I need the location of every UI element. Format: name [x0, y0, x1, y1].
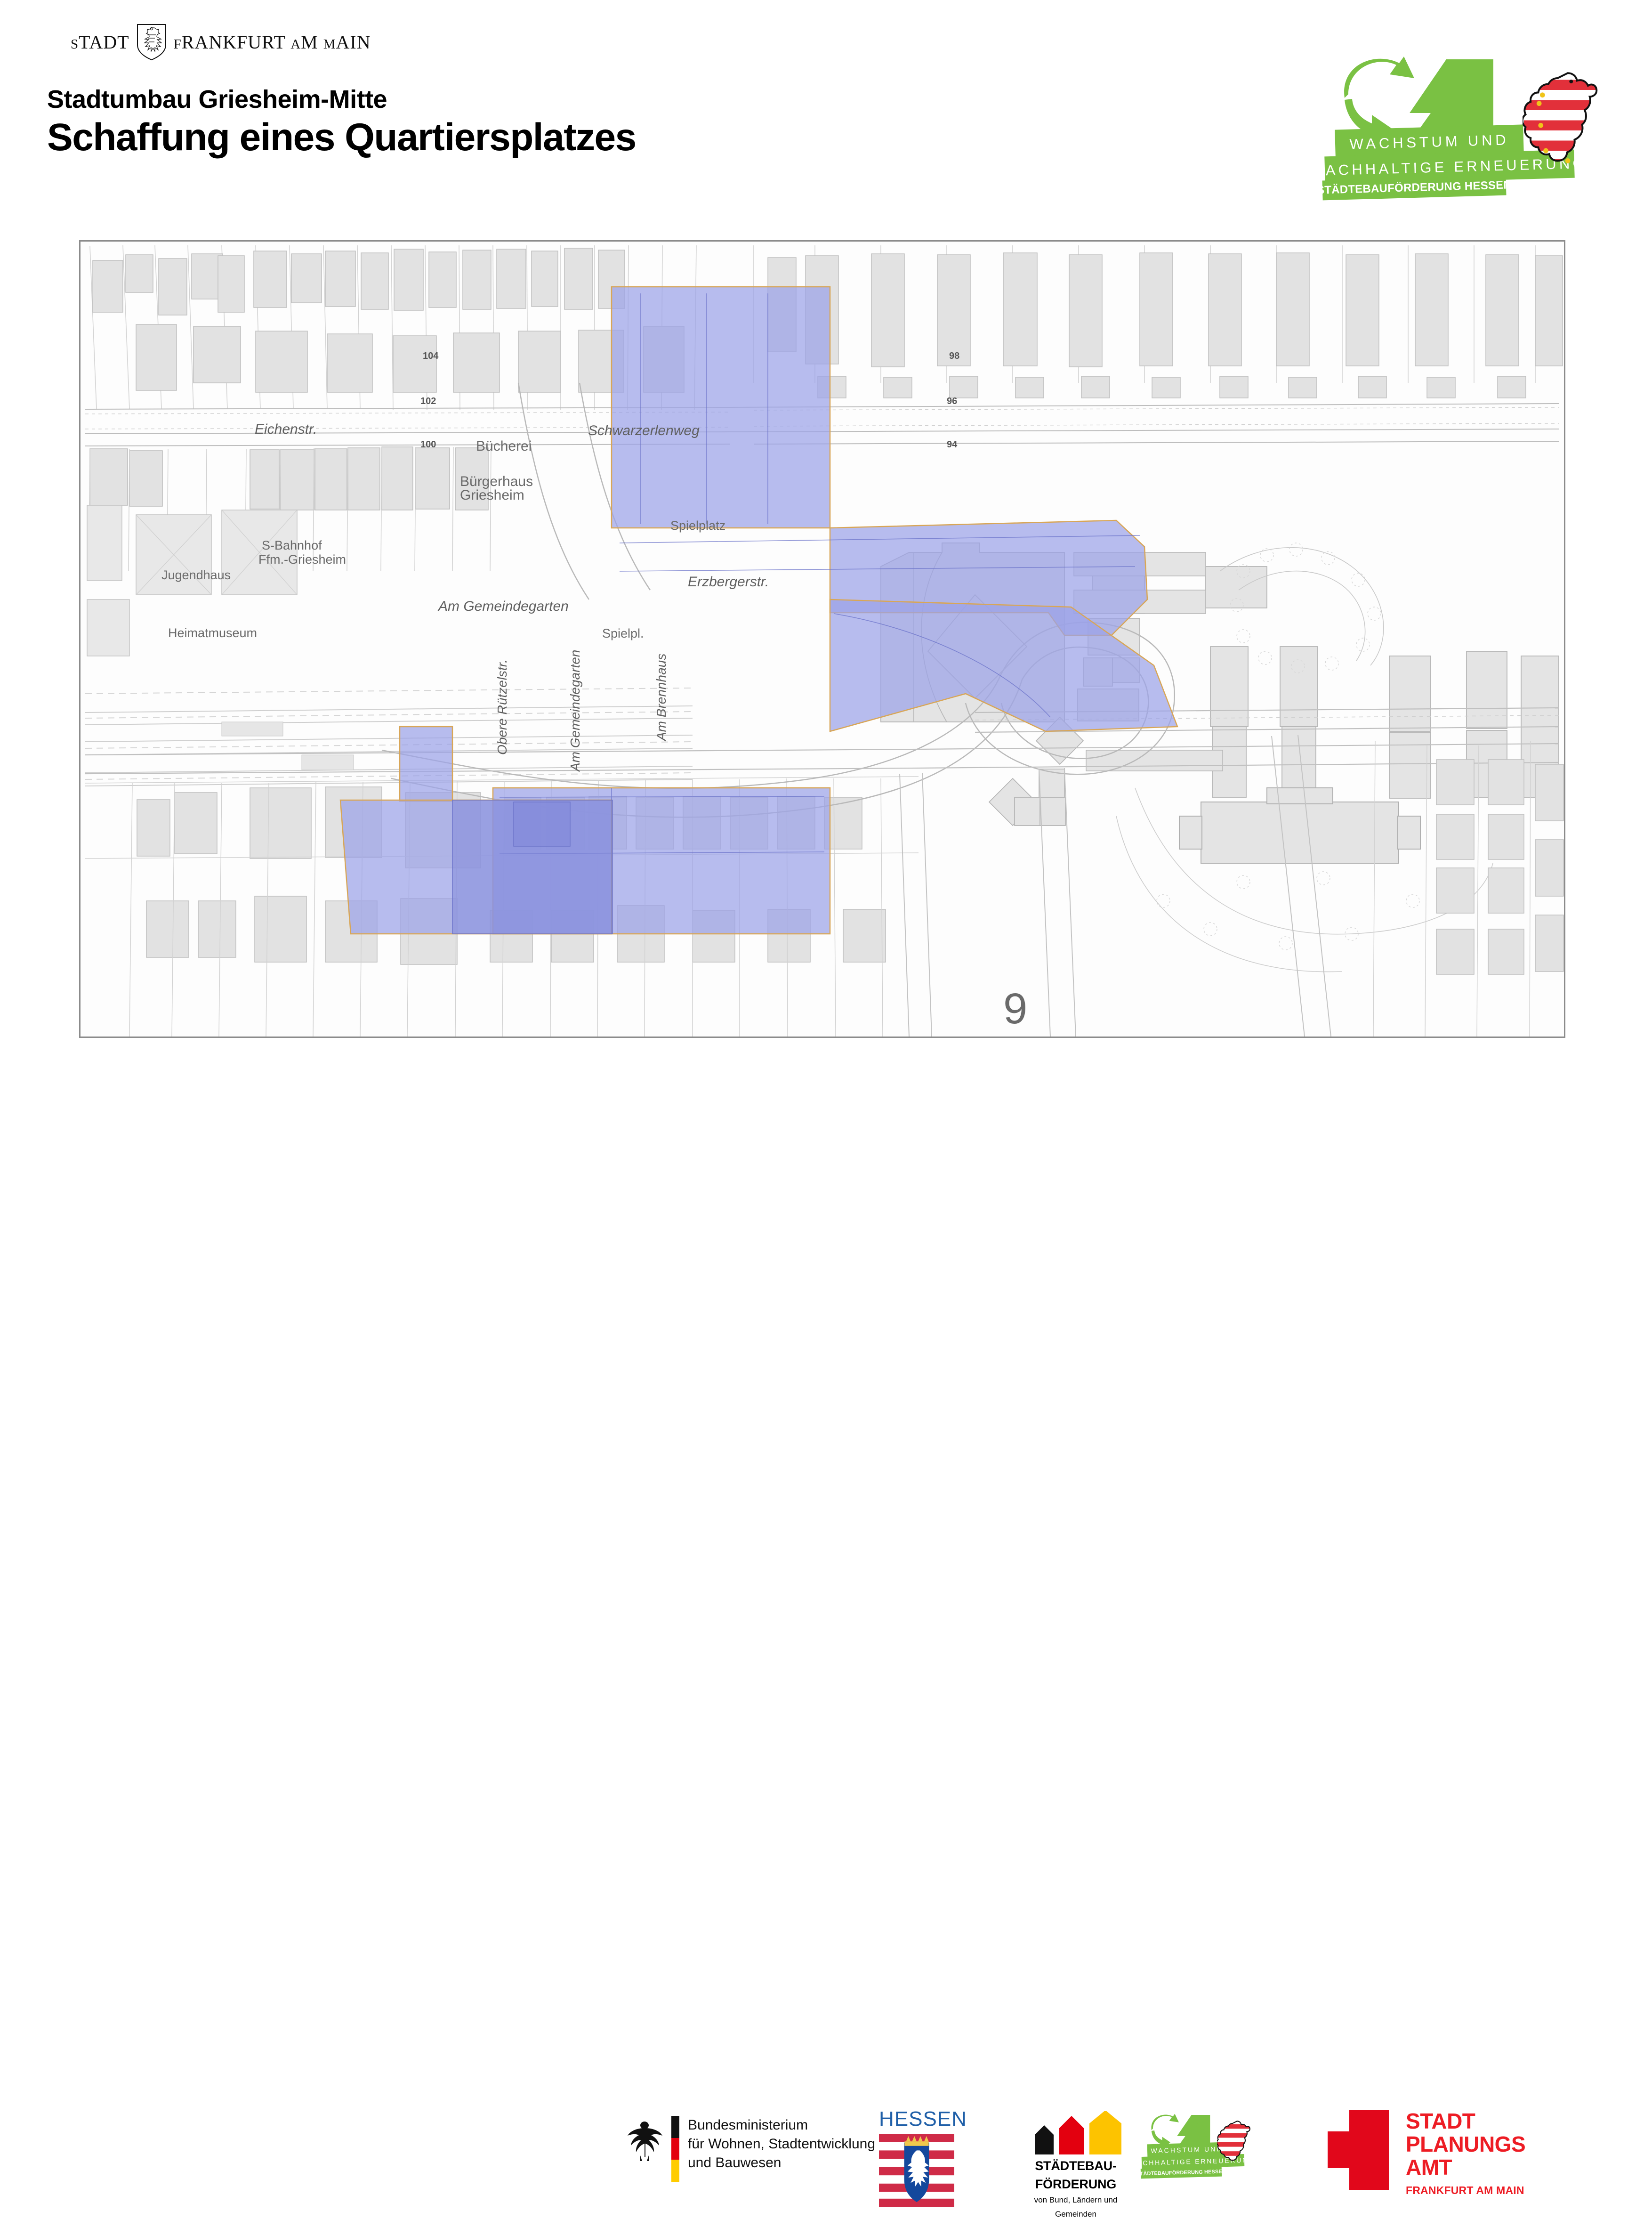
page-footer: Bundesministerium für Wohnen, Stadtentwi… — [0, 1043, 1652, 1168]
wachstum-und-nachhaltige-erneuerung-logo: WACHSTUM UND NACHHALTIGE ERNEUERUNG STÄD… — [1344, 57, 1626, 207]
bmwsb-logo: Bundesministerium für Wohnen, Stadtentwi… — [626, 2116, 875, 2182]
city-logo-stadt: STADT — [71, 31, 129, 53]
page-header: STADT FRANKFURT AM MAIN Stadtumbau Gries… — [0, 0, 1652, 235]
page-subtitle: Stadtumbau Griesheim-Mitte — [47, 85, 387, 114]
place-label-jugendhaus: Jugendhaus — [161, 568, 231, 583]
city-logo-frankfurt: FRANKFURT AM MAIN — [174, 31, 371, 53]
stadtplanungsamt-logo: STADT PLANUNGS AMT FRANKFURT AM MAIN — [1328, 2110, 1525, 2197]
street-label-am-brennhaus: Am Brennhaus — [654, 654, 669, 741]
hessen-coat-of-arms-icon — [879, 2132, 954, 2208]
place-label-griesheim: Griesheim — [460, 487, 524, 503]
frankfurt-eagle-icon — [136, 23, 167, 61]
house-number: 94 — [947, 439, 957, 450]
house-number: 102 — [420, 396, 436, 407]
place-label-ffm-griesheim: Ffm.-Griesheim — [258, 552, 346, 567]
spa-line-2: PLANUNGS — [1406, 2133, 1525, 2156]
hessen-logo: HESSEN — [879, 2109, 959, 2208]
cadastral-map[interactable]: 9 Eiche — [79, 240, 1565, 1038]
house-number: 98 — [949, 351, 959, 362]
bmwsb-text: Bundesministerium für Wohnen, Stadtentwi… — [688, 2116, 875, 2172]
hessen-wordmark: HESSEN — [879, 2109, 959, 2130]
bmwsb-line-3: und Bauwesen — [688, 2154, 875, 2172]
place-label-s-bahnhof: S-Bahnhof — [262, 538, 322, 553]
wachstum-logo-footer: WACHSTUM UND NACHHALTIGE ERNEUERUNG STÄD… — [1151, 2113, 1273, 2184]
staedtebau-line-2: FÖRDERUNG — [1007, 2177, 1144, 2191]
city-of-frankfurt-logo: STADT FRANKFURT AM MAIN — [71, 23, 371, 61]
bmwsb-line-1: Bundesministerium — [688, 2116, 875, 2135]
house-number: 104 — [423, 351, 438, 362]
hessen-lion-icon — [1523, 70, 1610, 171]
staedtebau-sub-2: Gemeinden — [1007, 2210, 1144, 2219]
place-label-heimatmuseum: Heimatmuseum — [168, 626, 257, 640]
place-label-spielpl: Spielpl. — [602, 626, 644, 641]
street-label-am-gemeindegarten-vertical: Am Gemeindegarten — [568, 650, 583, 771]
page-title: Schaffung eines Quartiersplatzes — [47, 115, 636, 160]
spa-line-1: STADT — [1406, 2110, 1525, 2133]
street-label-eichenstr: Eichenstr. — [255, 421, 317, 437]
three-houses-icon — [1025, 2111, 1127, 2154]
staedtebau-sub-1: von Bund, Ländern und — [1007, 2195, 1144, 2205]
staedtebaufoerderung-logo: STÄDTEBAU- FÖRDERUNG von Bund, Ländern u… — [1007, 2111, 1144, 2219]
german-flag-bar — [671, 2116, 679, 2182]
staedtebau-line-1: STÄDTEBAU- — [1007, 2159, 1144, 2173]
stadtplanungsamt-wordmark: STADT PLANUNGS AMT FRANKFURT AM MAIN — [1406, 2110, 1525, 2197]
place-label-spielplatz: Spielplatz — [670, 518, 725, 533]
house-number: 96 — [947, 396, 957, 407]
bmwsb-line-2: für Wohnen, Stadtentwicklung — [688, 2135, 875, 2154]
street-label-schwarzerlenweg: Schwarzerlenweg — [588, 423, 700, 439]
bundesadler-icon — [626, 2116, 663, 2163]
svg-text:9: 9 — [1003, 985, 1027, 1033]
street-label-am-gemeindegarten: Am Gemeindegarten — [438, 599, 569, 615]
place-label-buecherei: Bücherei — [476, 438, 532, 454]
hessen-lion-icon-small — [1217, 2120, 1256, 2165]
street-label-erzbergerstr: Erzbergerstr. — [688, 574, 769, 590]
spa-subline: FRANKFURT AM MAIN — [1406, 2184, 1525, 2197]
map-canvas: 9 — [81, 242, 1564, 1037]
wachstum-small-bar-3: STÄDTEBAUFÖRDERUNG HESSEN — [1141, 2167, 1222, 2179]
spa-line-3: AMT — [1406, 2156, 1525, 2179]
stadtplanungsamt-mark-icon — [1328, 2110, 1389, 2190]
street-label-obere-ruetzelstr: Obere Rützelstr. — [495, 659, 510, 755]
house-number: 100 — [420, 439, 436, 450]
